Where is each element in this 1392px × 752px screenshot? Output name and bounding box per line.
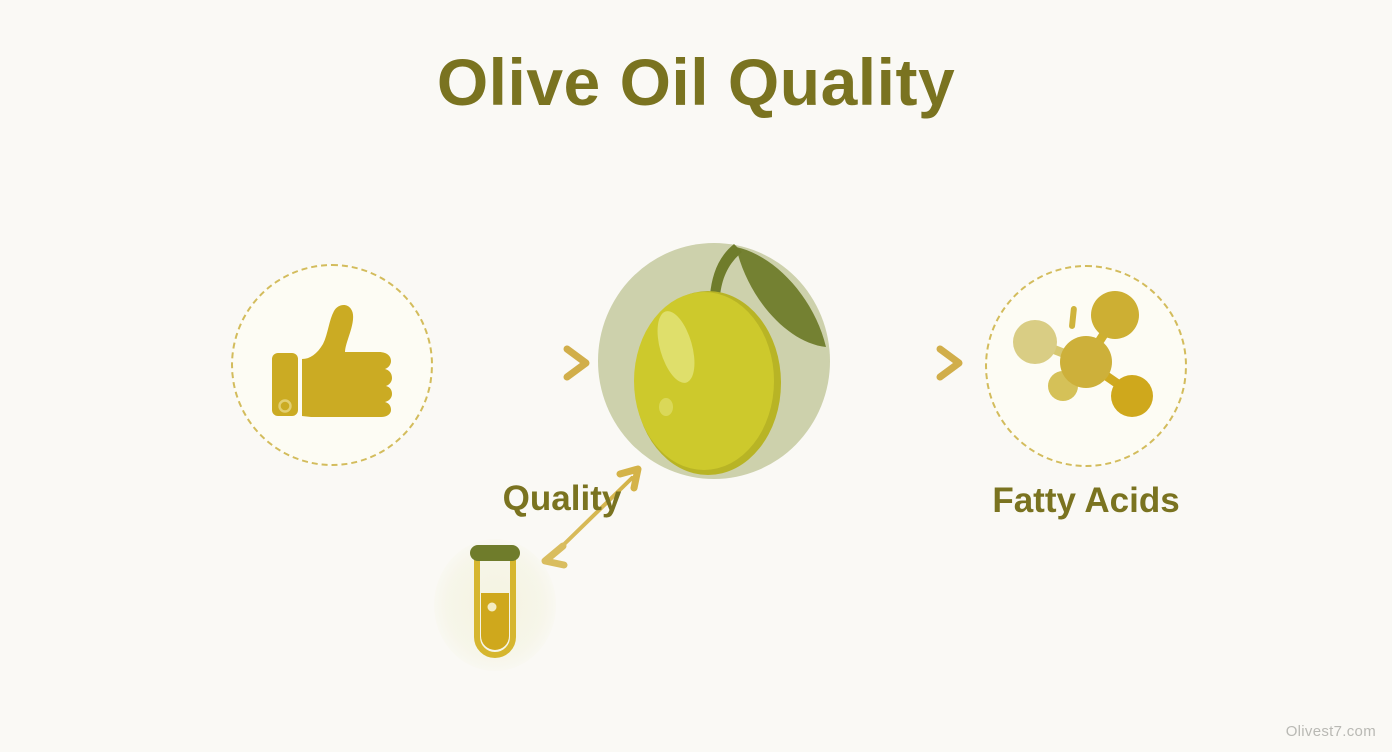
molecule-icon [985, 265, 1187, 467]
connector-olive-to-fatty-acids [836, 349, 959, 377]
node-fatty-acids-label: Fatty Acids [936, 481, 1236, 521]
thumbs-up-icon [231, 264, 433, 466]
page-title: Olive Oil Quality [0, 48, 1392, 117]
node-test-tube[interactable] [420, 525, 570, 685]
node-quality-label: Quality [412, 479, 712, 519]
diagram-canvas: Olive Oil Quality [0, 0, 1392, 752]
olive-fruit-icon [588, 225, 848, 475]
watermark: Olivest7.com [1286, 723, 1376, 740]
node-olive[interactable] [598, 243, 830, 479]
node-quality[interactable]: Quality [231, 264, 433, 466]
connector-quality-to-olive [441, 349, 586, 377]
node-fatty-acids[interactable]: Fatty Acids [985, 265, 1187, 467]
test-tube-icon [420, 525, 570, 685]
